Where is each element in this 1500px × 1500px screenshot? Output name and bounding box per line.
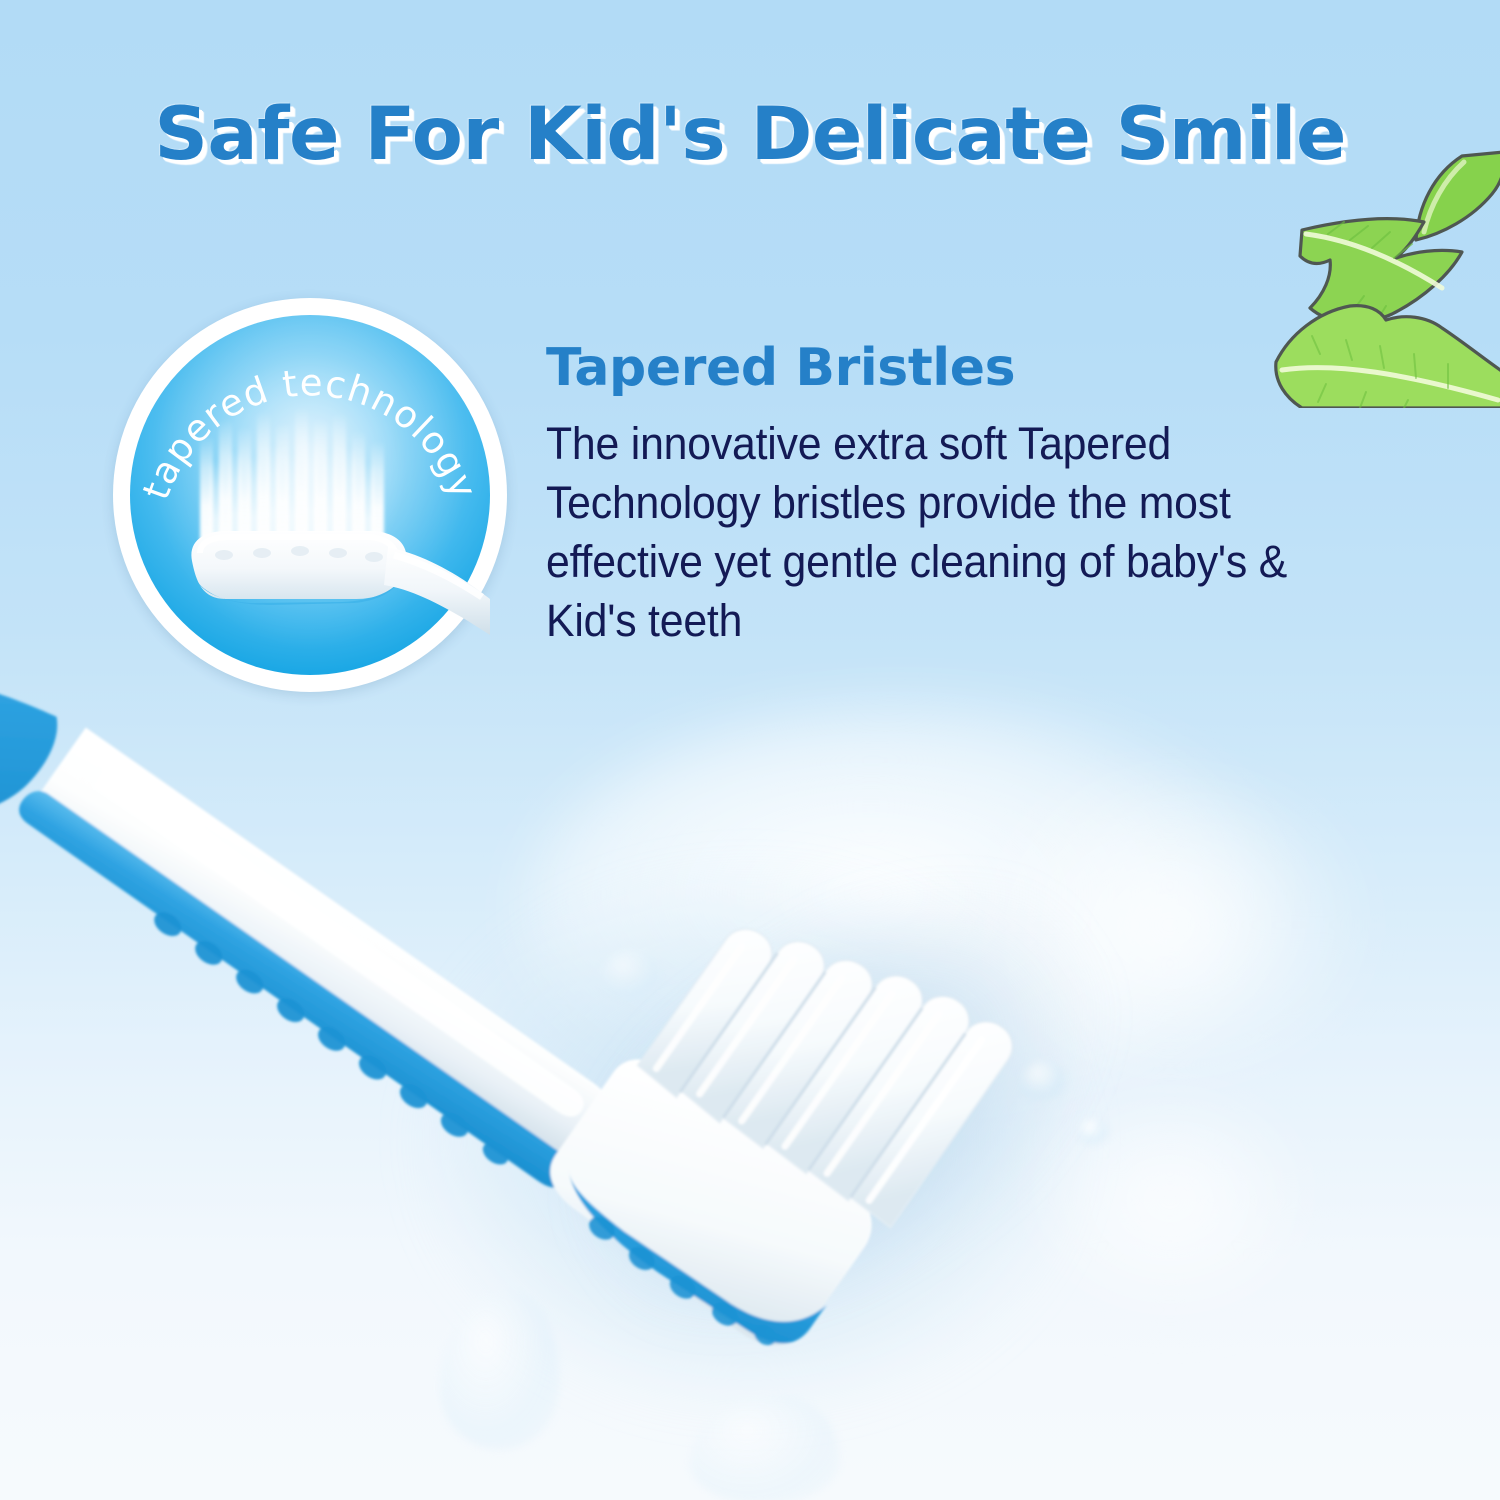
badge-arc-label: tapered technology bbox=[134, 361, 485, 505]
water-splash-shadow bbox=[430, 880, 1070, 1400]
water-splash-right bbox=[960, 760, 1380, 1090]
brush-grip-strip bbox=[13, 784, 576, 1193]
feature-description: The innovative extra soft Tapered Techno… bbox=[546, 415, 1382, 651]
brush-handle-shaft bbox=[33, 728, 621, 1178]
water-splash-highlight bbox=[520, 700, 1300, 1130]
water-droplet bbox=[440, 1290, 560, 1450]
badge-arc-text: tapered technology bbox=[130, 315, 490, 675]
brush-head-blue-edge bbox=[550, 1140, 826, 1363]
feature-heading: Tapered Bristles bbox=[546, 340, 1366, 397]
water-droplet bbox=[1020, 1060, 1066, 1100]
water-splash-lower-right bbox=[1020, 1080, 1320, 1320]
kids-toothbrush-photo bbox=[0, 690, 1230, 1500]
water-droplet bbox=[1078, 1118, 1108, 1144]
head-grip-bumps bbox=[584, 1208, 781, 1357]
water-droplet bbox=[600, 950, 660, 998]
feature-copy-block: Tapered Bristles The innovative extra so… bbox=[546, 340, 1366, 651]
grip-bumps bbox=[150, 907, 513, 1169]
water-droplet bbox=[690, 1395, 840, 1500]
product-shadow bbox=[516, 812, 1165, 1399]
brush-head bbox=[533, 1038, 888, 1363]
product-feature-poster: Safe For Kid's Delicate Smile bbox=[0, 0, 1500, 1500]
bristle-tufts bbox=[636, 869, 1022, 1241]
tapered-technology-badge: tapered technology bbox=[113, 298, 507, 692]
badge-arc-textpath: tapered technology bbox=[134, 361, 485, 505]
thumb-grip-pad bbox=[0, 690, 70, 857]
page-title: Safe For Kid's Delicate Smile bbox=[154, 92, 1346, 177]
